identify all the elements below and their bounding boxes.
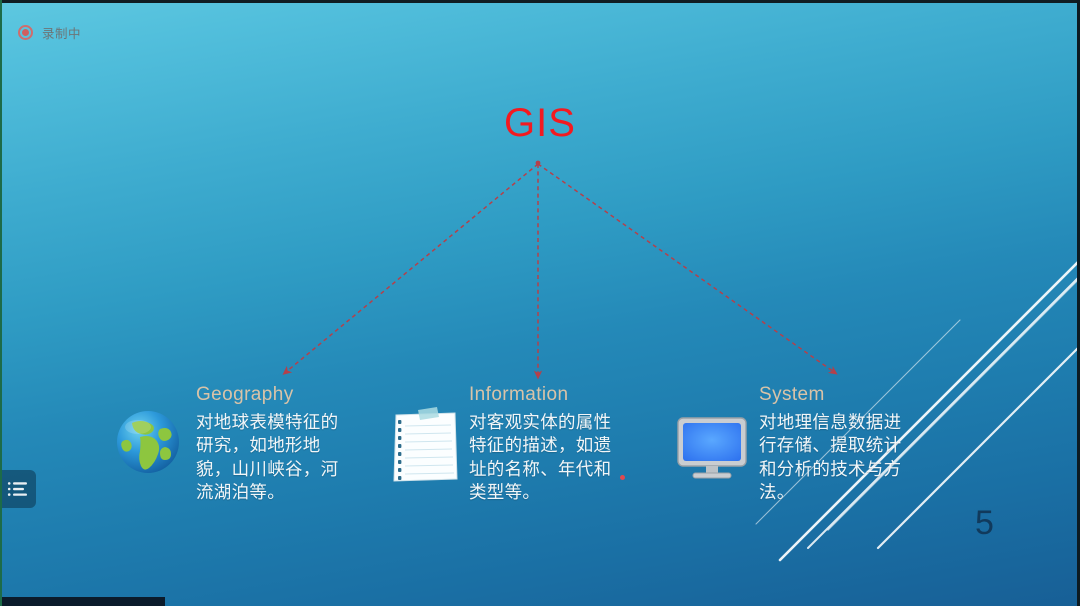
column-heading-geography: Geography	[196, 385, 354, 404]
computer-monitor-icon	[672, 414, 754, 484]
concept-text-system: System 对地理信息数据进行存储、提取统计和分析的技术与方法。	[759, 385, 917, 505]
column-body-geography: 对地球表模特征的研究，如地形地貌，山川峡谷，河流湖泊等。	[196, 411, 354, 505]
concept-column-system: System 对地理信息数据进行存储、提取统计和分析的技术与方法。	[672, 385, 917, 505]
concept-text-geography: Geography 对地球表模特征的研究，如地形地貌，山川峡谷，河流湖泊等。	[196, 385, 354, 505]
globe-earth-icon	[104, 407, 192, 477]
record-dot-icon	[18, 25, 33, 40]
stray-red-dot	[620, 475, 625, 480]
connector-arrows	[0, 0, 1080, 606]
list-menu-icon	[7, 481, 29, 497]
recording-indicator: 录制中	[18, 22, 81, 42]
concept-column-geography: Geography 对地球表模特征的研究，如地形地貌，山川峡谷，河流湖泊等。	[104, 385, 354, 505]
column-heading-information: Information	[469, 385, 627, 404]
presentation-progress-fill	[0, 597, 165, 606]
list-menu-button[interactable]	[0, 470, 36, 508]
concept-column-information: Information 对客观实体的属性特征的描述，如遗址的名称、年代和类型等。	[385, 385, 627, 505]
column-body-system: 对地理信息数据进行存储、提取统计和分析的技术与方法。	[759, 411, 917, 505]
window-top-edge	[0, 0, 1080, 3]
concept-text-information: Information 对客观实体的属性特征的描述，如遗址的名称、年代和类型等。	[469, 385, 627, 505]
slide-title: GIS	[0, 103, 1080, 143]
presentation-progress-track[interactable]	[0, 597, 1080, 606]
column-heading-system: System	[759, 385, 917, 404]
recording-label: 录制中	[42, 23, 81, 42]
window-left-edge	[0, 0, 2, 606]
slide-number: 5	[975, 506, 994, 540]
slide-canvas: GIS	[0, 0, 1080, 606]
notepad-paper-icon	[385, 406, 463, 486]
column-body-information: 对客观实体的属性特征的描述，如遗址的名称、年代和类型等。	[469, 411, 627, 505]
